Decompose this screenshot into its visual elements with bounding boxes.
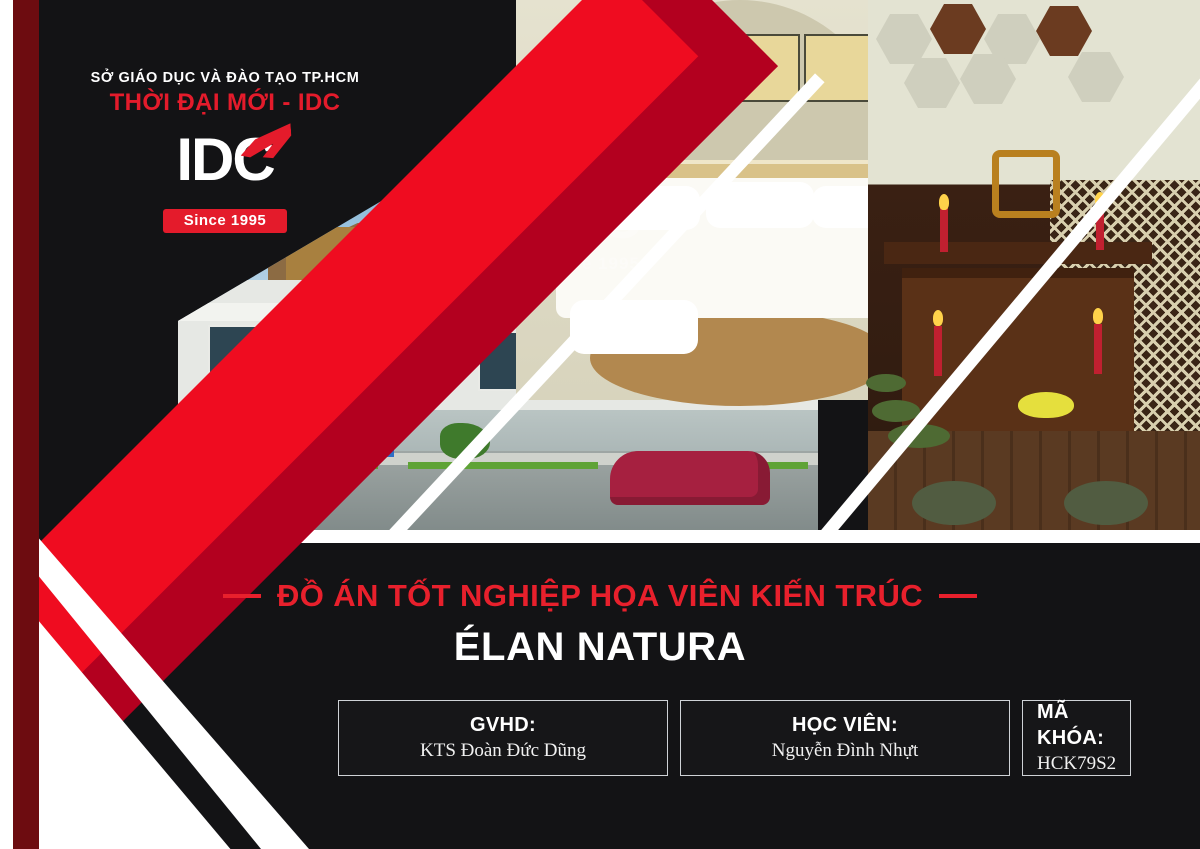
info-value: Nguyễn Đình Nhựt	[772, 738, 918, 764]
rule-left-icon	[223, 594, 261, 598]
idc-logo-block: SỞ GIÁO DỤC VÀ ĐÀO TẠO TP.HCM THỜI ĐẠI M…	[60, 70, 390, 233]
info-value: HCK79S2	[1037, 751, 1116, 777]
organization-line: SỞ GIÁO DỤC VÀ ĐÀO TẠO TP.HCM	[60, 70, 390, 86]
idc-logo-mark: IDC	[140, 129, 310, 207]
poster-canvas: IDC Since 1995 SỞ GIÁO DỤC VÀ ĐÀO TẠO TP…	[0, 0, 1200, 849]
subtitle-row: ĐỒ ÁN TỐT NGHIỆP HỌA VIÊN KIẾN TRÚC	[0, 578, 1200, 614]
info-label: HỌC VIÊN:	[792, 712, 898, 738]
info-label: GVHD:	[470, 712, 536, 738]
rule-right-icon	[939, 594, 977, 598]
collage-bottom-edge	[178, 530, 1200, 543]
info-box-gvhd: GVHD: KTS Đoàn Đức Dũng	[338, 700, 668, 776]
info-label: MÃ KHÓA:	[1037, 699, 1116, 751]
info-box-hoc-vien: HỌC VIÊN: Nguyễn Đình Nhựt	[680, 700, 1010, 776]
brand-line: THỜI ĐẠI MỚI - IDC	[60, 89, 390, 117]
left-maroon-stripe	[13, 0, 39, 849]
since-badge: Since 1995	[163, 209, 287, 233]
info-box-row: GVHD: KTS Đoàn Đức Dũng HỌC VIÊN: Nguyễn…	[338, 700, 1108, 776]
left-page-margin	[0, 0, 13, 849]
poster-subtitle: ĐỒ ÁN TỐT NGHIỆP HỌA VIÊN KIẾN TRÚC	[277, 578, 923, 614]
project-title: ÉLAN NATURA	[0, 625, 1200, 670]
info-box-ma-khoa: MÃ KHÓA: HCK79S2	[1022, 700, 1131, 776]
info-value: KTS Đoàn Đức Dũng	[420, 738, 586, 764]
